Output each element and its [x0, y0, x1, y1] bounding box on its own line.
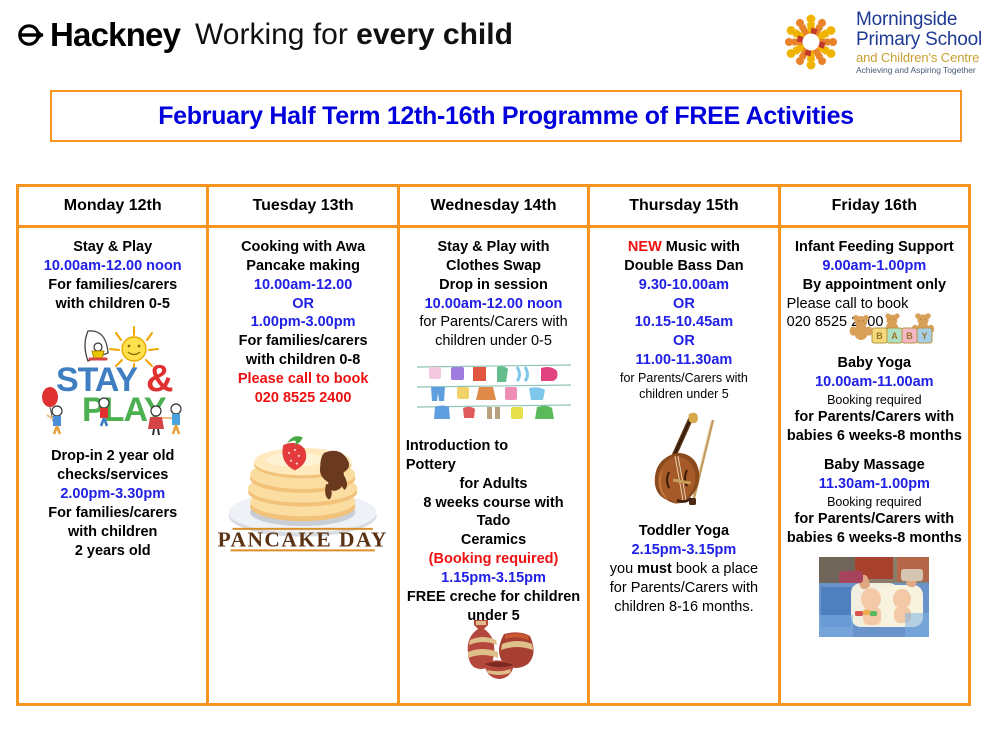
- day-header-friday: Friday 16th: [781, 187, 968, 225]
- double-bass-clipart-icon: [596, 408, 771, 512]
- activity-time: 2.15pm-3.15pm: [596, 541, 771, 560]
- activity-audience-line-2: babies 6 weeks-8 months: [787, 529, 962, 548]
- activity-time-1: 9.30-10.00am: [596, 276, 771, 295]
- activities-table: Monday 12th Tuesday 13th Wednesday 14th …: [16, 184, 971, 706]
- booking-note: Please call to book: [215, 370, 390, 389]
- activity-time: 1.15pm-3.15pm: [406, 569, 581, 588]
- activity-time: 10.00am-11.00am: [787, 373, 962, 392]
- activity-audience-line-3: 2 years old: [25, 542, 200, 561]
- pancake-day-clipart-icon: PANCAKE DAY: [215, 418, 390, 556]
- activity-title: Infant Feeding Support: [787, 238, 962, 257]
- activity-audience-line-1: for Parents/Carers with: [406, 313, 581, 332]
- day-header-label: Thursday 15th: [629, 197, 738, 215]
- activity-title-line-2: Pancake making: [215, 257, 390, 276]
- activity-clothes-swap: Stay & Play with Clothes Swap Drop in se…: [406, 238, 581, 351]
- activity-baby-yoga: Baby Yoga 10.00am-11.00am Booking requir…: [787, 354, 962, 446]
- svg-text:B: B: [876, 331, 883, 341]
- activity-pottery-heading: Introduction to Pottery: [406, 437, 581, 475]
- activity-time: 10.00am-12.00 noon: [406, 295, 581, 314]
- clothes-line-clipart-icon: [406, 357, 581, 423]
- activity-time-2: 1.00pm-3.00pm: [215, 313, 390, 332]
- baby-massage-photo: [787, 557, 962, 637]
- stay-and-play-clipart-icon: STAY & PLAY: [25, 319, 200, 437]
- activity-time-separator-1: OR: [596, 295, 771, 314]
- activity-course-line-1: 8 weeks course with Tado: [406, 494, 581, 532]
- activity-title: Toddler Yoga: [596, 522, 771, 541]
- svg-text:B: B: [906, 331, 913, 341]
- day-cell-thursday: NEW Music with Double Bass Dan 9.30-10.0…: [590, 228, 780, 703]
- activity-audience-line-1: for Parents/Carers with: [596, 370, 771, 386]
- activity-audience-line-1: For families/carers: [25, 276, 200, 295]
- morningside-school-logo: Morningside Primary School and Children'…: [775, 10, 982, 75]
- activity-audience-line-2: children 8-16 months.: [596, 598, 771, 617]
- sunburst-people-circle-icon: [775, 11, 847, 73]
- activity-title-line-2: Double Bass Dan: [596, 257, 771, 276]
- strapline-part-1: Working for: [195, 18, 356, 51]
- activity-time-1: 10.00am-12.00: [215, 276, 390, 295]
- day-header-monday: Monday 12th: [19, 187, 209, 225]
- school-tagline: Achieving and Aspiring Together: [856, 66, 982, 75]
- day-header-label: Wednesday 14th: [431, 197, 557, 215]
- activity-audience-line-2: with children 0-5: [25, 295, 200, 314]
- activity-audience-line-2: children under 5: [596, 386, 771, 402]
- activity-baby-massage: Baby Massage 11.30am-1.00pm Booking requ…: [787, 456, 962, 548]
- activity-stay-and-play: Stay & Play 10.00am-12.00 noon For famil…: [25, 238, 200, 313]
- activity-title: Stay & Play: [25, 238, 200, 257]
- page-header: Hackney Working for every child: [0, 0, 1000, 80]
- activity-audience-line-2: with children: [25, 523, 200, 542]
- activity-time: 11.30am-1.00pm: [787, 475, 962, 494]
- activity-audience-line-1: for Parents/Carers with: [787, 408, 962, 427]
- table-header-row: Monday 12th Tuesday 13th Wednesday 14th …: [19, 187, 968, 228]
- strapline-part-2: every child: [356, 18, 513, 51]
- day-header-label: Monday 12th: [64, 197, 162, 215]
- activity-time: 2.00pm-3.30pm: [25, 485, 200, 504]
- activity-audience-line-2: babies 6 weeks-8 months: [787, 427, 962, 446]
- programme-title-banner: February Half Term 12th-16th Programme o…: [50, 90, 962, 142]
- activity-time-separator: OR: [215, 295, 390, 314]
- activity-toddler-yoga: Toddler Yoga 2.15pm-3.15pm you must book…: [596, 522, 771, 616]
- day-header-tuesday: Tuesday 13th: [209, 187, 399, 225]
- activity-title-line-1: Introduction to: [406, 437, 581, 456]
- activity-pottery-details: for Adults 8 weeks course with Tado Cera…: [406, 475, 581, 626]
- activity-time-3: 11.00-11.30am: [596, 351, 771, 370]
- activity-time: 10.00am-12.00 noon: [25, 257, 200, 276]
- page-title: February Half Term 12th-16th Programme o…: [158, 102, 854, 131]
- activity-title-line-2: checks/services: [25, 466, 200, 485]
- activity-title-line-1: NEW Music with: [596, 238, 771, 257]
- activity-title-line-1: Stay & Play with: [406, 238, 581, 257]
- booking-note: Booking required: [787, 392, 962, 408]
- activity-music-double-bass: NEW Music with Double Bass Dan 9.30-10.0…: [596, 238, 771, 402]
- day-cell-monday: Stay & Play 10.00am-12.00 noon For famil…: [19, 228, 209, 703]
- activity-cooking-with-awa: Cooking with Awa Pancake making 10.00am-…: [215, 238, 390, 408]
- school-name-line-3: and Children's Centre: [856, 51, 982, 65]
- activity-time-2: 10.15-10.45am: [596, 313, 771, 332]
- school-name-line-2: Primary School: [856, 30, 982, 50]
- activity-title-line-1: Drop-in 2 year old: [25, 447, 200, 466]
- day-header-wednesday: Wednesday 14th: [400, 187, 590, 225]
- activity-two-year-checks: Drop-in 2 year old checks/services 2.00p…: [25, 447, 200, 560]
- activity-title-line-2: Clothes Swap: [406, 257, 581, 276]
- activity-course-line-2: Ceramics: [406, 531, 581, 550]
- day-cell-friday: Infant Feeding Support 9.00am-1.00pm By …: [781, 228, 968, 703]
- hackney-h-arrow-mark-icon: [18, 22, 44, 48]
- day-header-label: Tuesday 13th: [253, 197, 354, 215]
- activity-audience-line-1: For families/carers: [25, 504, 200, 523]
- school-name-line-1: Morningside: [856, 10, 982, 30]
- activity-audience: for Adults: [406, 475, 581, 494]
- booking-note: (Booking required): [406, 550, 581, 569]
- activity-title-line-2: Pottery: [406, 456, 581, 475]
- appointment-note: By appointment only: [787, 276, 962, 295]
- activity-title-line-1: Cooking with Awa: [215, 238, 390, 257]
- svg-text:Y: Y: [922, 331, 928, 341]
- day-cell-tuesday: Cooking with Awa Pancake making 10.00am-…: [209, 228, 399, 703]
- activity-audience-line-1: For families/carers: [215, 332, 390, 351]
- activity-time: 9.00am-1.00pm: [787, 257, 962, 276]
- booking-note: Booking required: [787, 494, 962, 510]
- activity-title: Baby Massage: [787, 456, 962, 475]
- hackney-wordmark: Hackney: [50, 18, 180, 51]
- activity-time-separator-2: OR: [596, 332, 771, 351]
- activity-title: Baby Yoga: [787, 354, 962, 373]
- creche-note-line-1: FREE creche for children: [406, 588, 581, 607]
- activity-title-line-3: Drop in session: [406, 276, 581, 295]
- table-body-row: Stay & Play 10.00am-12.00 noon For famil…: [19, 228, 968, 703]
- day-header-label: Friday 16th: [832, 197, 917, 215]
- activity-audience-line-1: for Parents/Carers with: [787, 510, 962, 529]
- activity-audience-line-1: for Parents/Carers with: [596, 579, 771, 598]
- activity-infant-feeding-support: Infant Feeding Support 9.00am-1.00pm By …: [787, 238, 962, 295]
- hackney-strapline: Working for every child: [195, 20, 513, 50]
- hackney-logo: Hackney: [18, 18, 180, 51]
- activity-title-rest: Music with: [662, 239, 740, 255]
- booking-phone: 020 8525 2400: [215, 389, 390, 408]
- booking-note: you must book a place: [596, 560, 771, 579]
- day-header-thursday: Thursday 15th: [590, 187, 780, 225]
- activity-audience-line-2: with children 0-8: [215, 351, 390, 370]
- svg-text:PANCAKE DAY: PANCAKE DAY: [218, 527, 388, 551]
- svg-text:A: A: [891, 331, 898, 341]
- morningside-wordmark: Morningside Primary School and Children'…: [856, 10, 982, 75]
- new-badge: NEW: [628, 239, 662, 255]
- pottery-pots-clipart-icon: [406, 612, 581, 682]
- day-cell-wednesday: Stay & Play with Clothes Swap Drop in se…: [400, 228, 590, 703]
- activity-audience-line-2: children under 0-5: [406, 332, 581, 351]
